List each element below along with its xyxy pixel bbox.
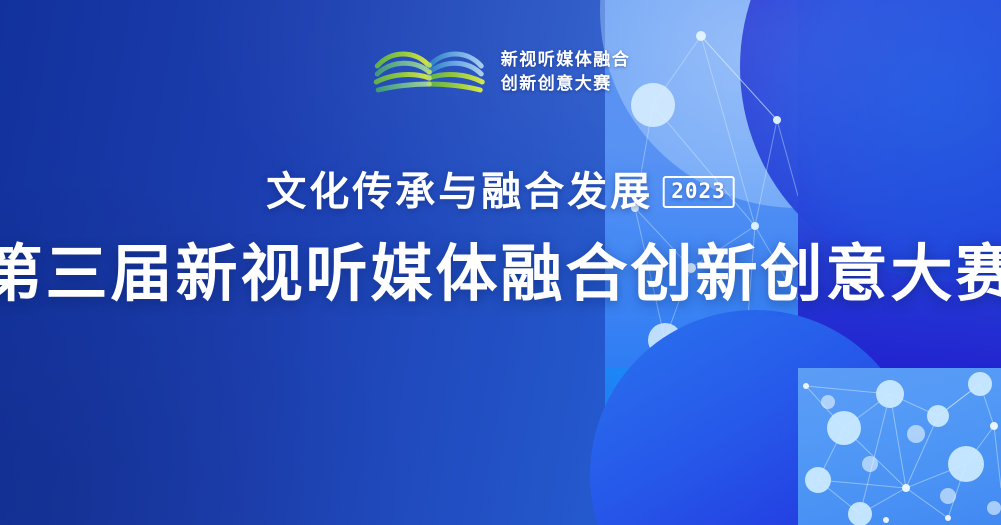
logo-wordmark: 新视听媒体融合 创新创意大赛 <box>501 50 631 93</box>
subtitle-text: 文化传承与融合发展 <box>266 172 653 212</box>
page-title: 第三届新视听媒体融合创新创意大赛 <box>0 242 1001 307</box>
logo-wordmark-line-2: 创新创意大赛 <box>501 74 631 94</box>
logo-wordmark-line-1: 新视听媒体融合 <box>501 50 631 70</box>
subtitle-row: 文化传承与融合发展 2023 <box>266 172 735 212</box>
logo-lockup: 新视听媒体融合 创新创意大赛 <box>371 44 631 100</box>
event-banner: 新视听媒体融合 创新创意大赛 文化传承与融合发展 2023 第三届新视听媒体融合… <box>0 0 1001 525</box>
wave-ribbon-logo-icon <box>371 44 487 100</box>
year-badge: 2023 <box>662 176 735 208</box>
